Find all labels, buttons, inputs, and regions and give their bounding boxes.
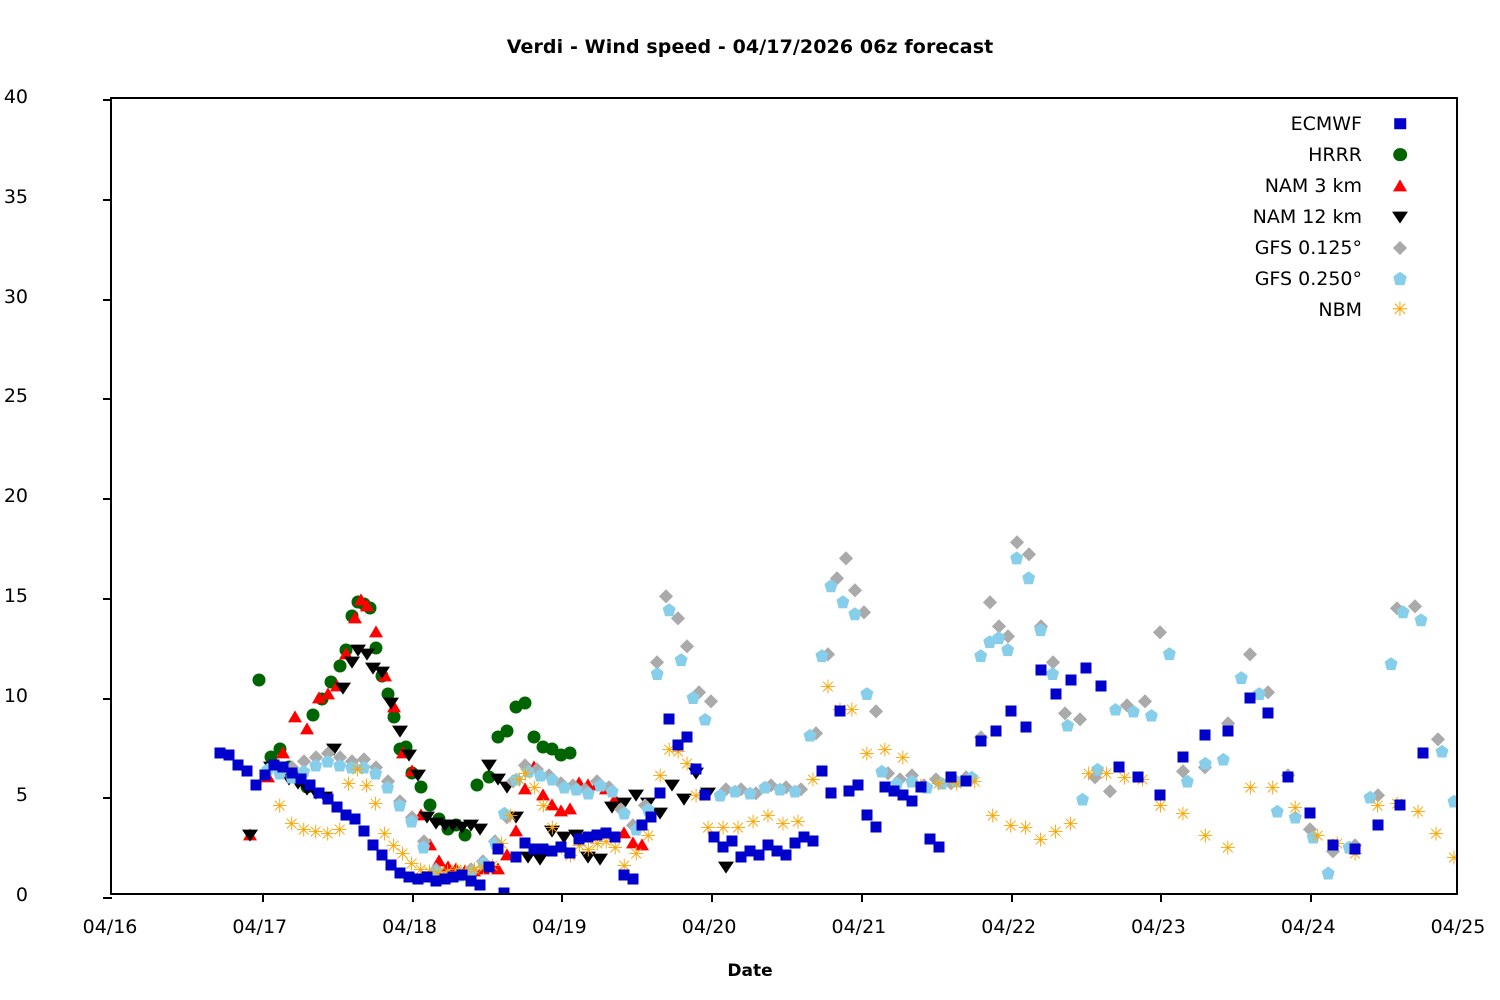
data-point [499, 888, 510, 894]
data-point [646, 812, 657, 823]
data-point [990, 726, 1001, 737]
data-point [960, 776, 971, 787]
x-tick-label: 04/16 [83, 916, 138, 938]
legend-label: ECMWF [1291, 113, 1390, 135]
legend-label: HRRR [1308, 144, 1390, 166]
x-tick-mark [711, 893, 713, 902]
y-tick-label: 40 [4, 86, 28, 108]
x-tick-mark [412, 893, 414, 902]
data-point [682, 732, 693, 743]
legend-marker-square-icon [1390, 114, 1410, 134]
data-point [358, 826, 369, 837]
y-tick-mark [103, 199, 112, 201]
legend-label: GFS 0.250° [1255, 268, 1390, 290]
y-tick-mark [103, 698, 112, 700]
y-tick-label: 0 [16, 884, 28, 906]
legend-label: NBM [1318, 299, 1390, 321]
data-point [975, 736, 986, 747]
data-point [1095, 680, 1106, 691]
y-tick-mark [103, 299, 112, 301]
data-point [691, 764, 702, 775]
data-point [1245, 692, 1256, 703]
data-point [781, 850, 792, 861]
data-point [1327, 840, 1338, 851]
x-tick-label: 04/20 [682, 916, 737, 938]
y-tick-mark [103, 797, 112, 799]
legend-item-gfs-0-125[interactable]: GFS 0.125° [1180, 232, 1410, 263]
wind-speed-chart: Verdi - Wind speed - 04/17/2026 06z fore… [0, 0, 1500, 1000]
data-point [945, 772, 956, 783]
x-tick-label: 04/17 [232, 916, 287, 938]
y-tick-mark [103, 498, 112, 500]
data-point [852, 780, 863, 791]
legend-label: NAM 12 km [1253, 206, 1390, 228]
data-point [1417, 748, 1428, 759]
data-point [349, 814, 360, 825]
data-point [484, 862, 495, 873]
legend-item-nam-12-km[interactable]: NAM 12 km [1180, 201, 1410, 232]
data-point [825, 788, 836, 799]
x-tick-label: 04/21 [831, 916, 886, 938]
y-tick-mark [103, 897, 112, 899]
legend-item-nbm[interactable]: NBM✳ [1180, 294, 1410, 325]
x-tick-label: 04/25 [1431, 916, 1486, 938]
data-point [1395, 800, 1406, 811]
y-tick-mark [103, 398, 112, 400]
legend-label: GFS 0.125° [1255, 237, 1390, 259]
legend-marker-triangle-up-icon [1390, 176, 1410, 196]
legend-marker-pentagon-icon [1390, 269, 1410, 289]
y-tick-label: 25 [4, 385, 28, 407]
data-point [1113, 762, 1124, 773]
legend-marker-asterisk-icon: ✳ [1390, 300, 1410, 320]
data-point [1200, 730, 1211, 741]
data-point [1132, 772, 1143, 783]
data-point [1050, 688, 1061, 699]
legend-label: NAM 3 km [1265, 175, 1390, 197]
data-point [1350, 844, 1361, 855]
data-point [1005, 706, 1016, 717]
y-tick-mark [103, 598, 112, 600]
data-point [250, 780, 261, 791]
data-point [655, 788, 666, 799]
data-point [241, 766, 252, 777]
x-tick-mark [1310, 893, 1312, 902]
y-tick-label: 15 [4, 585, 28, 607]
legend-item-gfs-0-250[interactable]: GFS 0.250° [1180, 263, 1410, 294]
x-tick-label: 04/23 [1131, 916, 1186, 938]
y-tick-label: 30 [4, 286, 28, 308]
x-axis-title: Date [0, 961, 1500, 981]
data-point [565, 848, 576, 859]
legend-item-hrrr[interactable]: HRRR [1180, 139, 1410, 170]
y-tick-label: 20 [4, 485, 28, 507]
x-tick-mark [262, 893, 264, 902]
x-tick-mark [861, 893, 863, 902]
y-tick-label: 35 [4, 186, 28, 208]
data-point [493, 844, 504, 855]
x-tick-mark [1011, 893, 1013, 902]
legend-marker-circle-icon [1390, 145, 1410, 165]
x-tick-label: 04/24 [1281, 916, 1336, 938]
data-point [1263, 708, 1274, 719]
x-tick-mark [1160, 893, 1162, 902]
x-tick-label: 04/22 [981, 916, 1036, 938]
data-point [1222, 726, 1233, 737]
data-point [664, 714, 675, 725]
legend-marker-diamond-icon [1390, 238, 1410, 258]
legend-item-nam-3-km[interactable]: NAM 3 km [1180, 170, 1410, 201]
data-point [1155, 790, 1166, 801]
data-point [1177, 752, 1188, 763]
data-point [700, 790, 711, 801]
data-point [915, 782, 926, 793]
x-tick-label: 04/19 [532, 916, 587, 938]
y-tick-label: 5 [16, 784, 28, 806]
data-point [1065, 674, 1076, 685]
data-point [628, 874, 639, 885]
x-tick-mark [561, 893, 563, 902]
legend: ECMWFHRRRNAM 3 kmNAM 12 kmGFS 0.125°GFS … [1180, 108, 1410, 325]
legend-marker-triangle-down-icon [1390, 207, 1410, 227]
data-point [906, 796, 917, 807]
data-point [1282, 772, 1293, 783]
data-point [807, 836, 818, 847]
data-point [1305, 808, 1316, 819]
data-point [754, 850, 765, 861]
data-point [933, 842, 944, 853]
data-point [816, 766, 827, 777]
data-point [610, 832, 621, 843]
y-tick-label: 10 [4, 685, 28, 707]
data-point [475, 880, 486, 891]
data-point [1080, 662, 1091, 673]
data-point [1020, 722, 1031, 733]
data-point [727, 836, 738, 847]
legend-item-ecmwf[interactable]: ECMWF [1180, 108, 1410, 139]
data-point [259, 770, 270, 781]
data-point [1372, 820, 1383, 831]
y-tick-mark [103, 99, 112, 101]
x-tick-label: 04/18 [382, 916, 437, 938]
data-point [870, 822, 881, 833]
page-title: Verdi - Wind speed - 04/17/2026 06z fore… [0, 36, 1500, 58]
data-point [1035, 664, 1046, 675]
data-point [861, 810, 872, 821]
data-point [834, 706, 845, 717]
data-point [511, 852, 522, 863]
